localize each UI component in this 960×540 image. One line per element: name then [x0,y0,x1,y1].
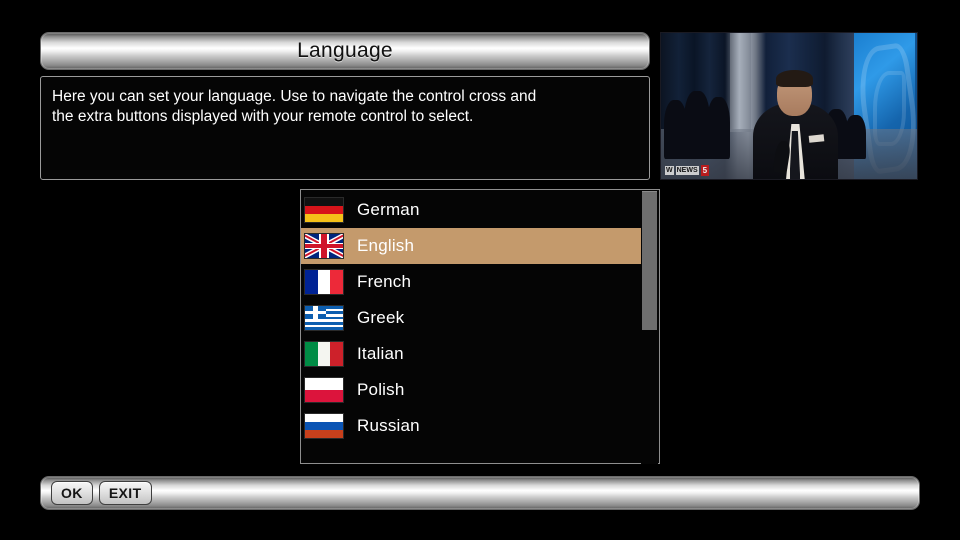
flag-france-icon [304,269,344,295]
language-list-item-english[interactable]: English [301,228,641,264]
preview-crowd-person [707,97,730,158]
list-scrollbar-thumb[interactable] [642,191,657,330]
language-list-item-label: Greek [357,308,404,328]
language-list-item-label: Russian [357,416,420,436]
language-list-item-label: German [357,200,420,220]
flag-united-kingdom-icon [304,233,344,259]
flag-russia-icon [304,413,344,439]
osd-screen: Language Here you can set your language.… [0,0,960,540]
language-list-item-polish[interactable]: Polish [301,372,641,408]
broadcaster-logo: W NEWS 5 [665,165,709,176]
logo-part-3: 5 [701,165,709,176]
language-list-item-label: Italian [357,344,404,364]
help-text-panel: Here you can set your language. Use to n… [40,76,650,180]
ok-button-label: OK [61,485,83,501]
preview-reporter-hair [776,70,813,88]
flag-poland-icon [304,377,344,403]
preview-pillar [730,33,750,132]
language-list-item-german[interactable]: German [301,192,641,228]
flag-italy-icon [304,341,344,367]
language-list-item-label: French [357,272,411,292]
softkey-bar: OKEXIT [40,476,920,510]
language-list-item-french[interactable]: French [301,264,641,300]
preview-crowd-person [684,91,710,158]
language-list: GermanEnglishFrenchGreekItalianPolishRus… [301,192,641,444]
flag-greece-icon [304,305,344,331]
title-bar: Language [40,32,650,70]
language-list-item-label: Polish [357,380,405,400]
flag-germany-icon [304,197,344,223]
ok-button[interactable]: OK [51,481,93,505]
exit-button-label: EXIT [109,485,142,501]
language-list-item-label: English [357,236,414,256]
language-list-item-russian[interactable]: Russian [301,408,641,444]
page-title: Language [297,39,393,63]
logo-part-2: NEWS [676,166,699,175]
preview-crowd-person [845,115,865,159]
list-scrollbar-track[interactable] [641,191,658,464]
logo-part-1: W [665,166,674,175]
live-tv-preview[interactable]: W NEWS 5 [660,32,918,180]
language-list-panel[interactable]: GermanEnglishFrenchGreekItalianPolishRus… [300,189,660,464]
help-text: Here you can set your language. Use to n… [52,87,638,128]
language-list-item-italian[interactable]: Italian [301,336,641,372]
exit-button[interactable]: EXIT [99,481,152,505]
language-list-item-greek[interactable]: Greek [301,300,641,336]
